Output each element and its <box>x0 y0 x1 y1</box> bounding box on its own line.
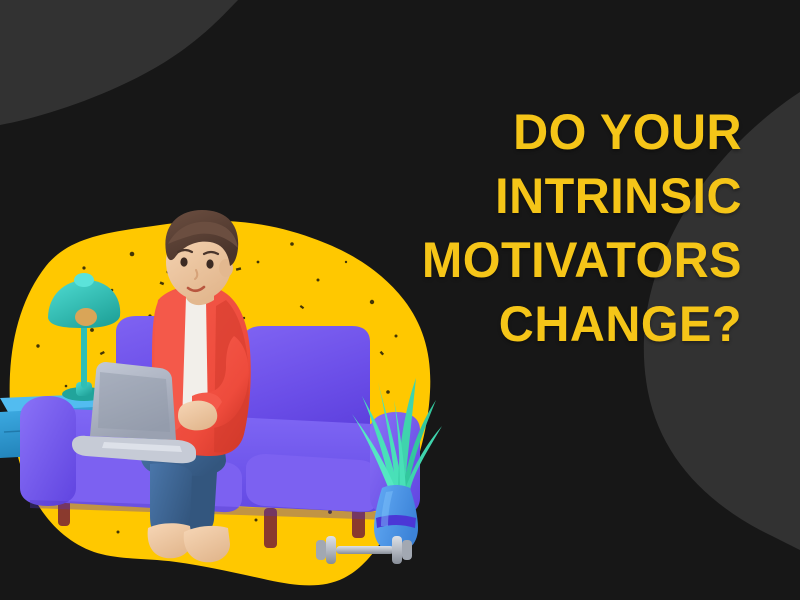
headline: DO YOUR INTRINSIC MOTIVATORS CHANGE? <box>322 100 742 356</box>
headline-line-2: INTRINSIC <box>335 164 742 228</box>
headline-line-3: MOTIVATORS <box>335 228 742 292</box>
banner-canvas: DO YOUR INTRINSIC MOTIVATORS CHANGE? <box>0 0 800 600</box>
headline-line-1: DO YOUR <box>335 100 742 164</box>
eye <box>180 257 187 266</box>
eye <box>206 259 213 268</box>
lamp-bulb-icon <box>75 308 97 326</box>
dumbbell-bar <box>336 546 394 554</box>
headline-line-4: CHANGE? <box>335 292 742 356</box>
